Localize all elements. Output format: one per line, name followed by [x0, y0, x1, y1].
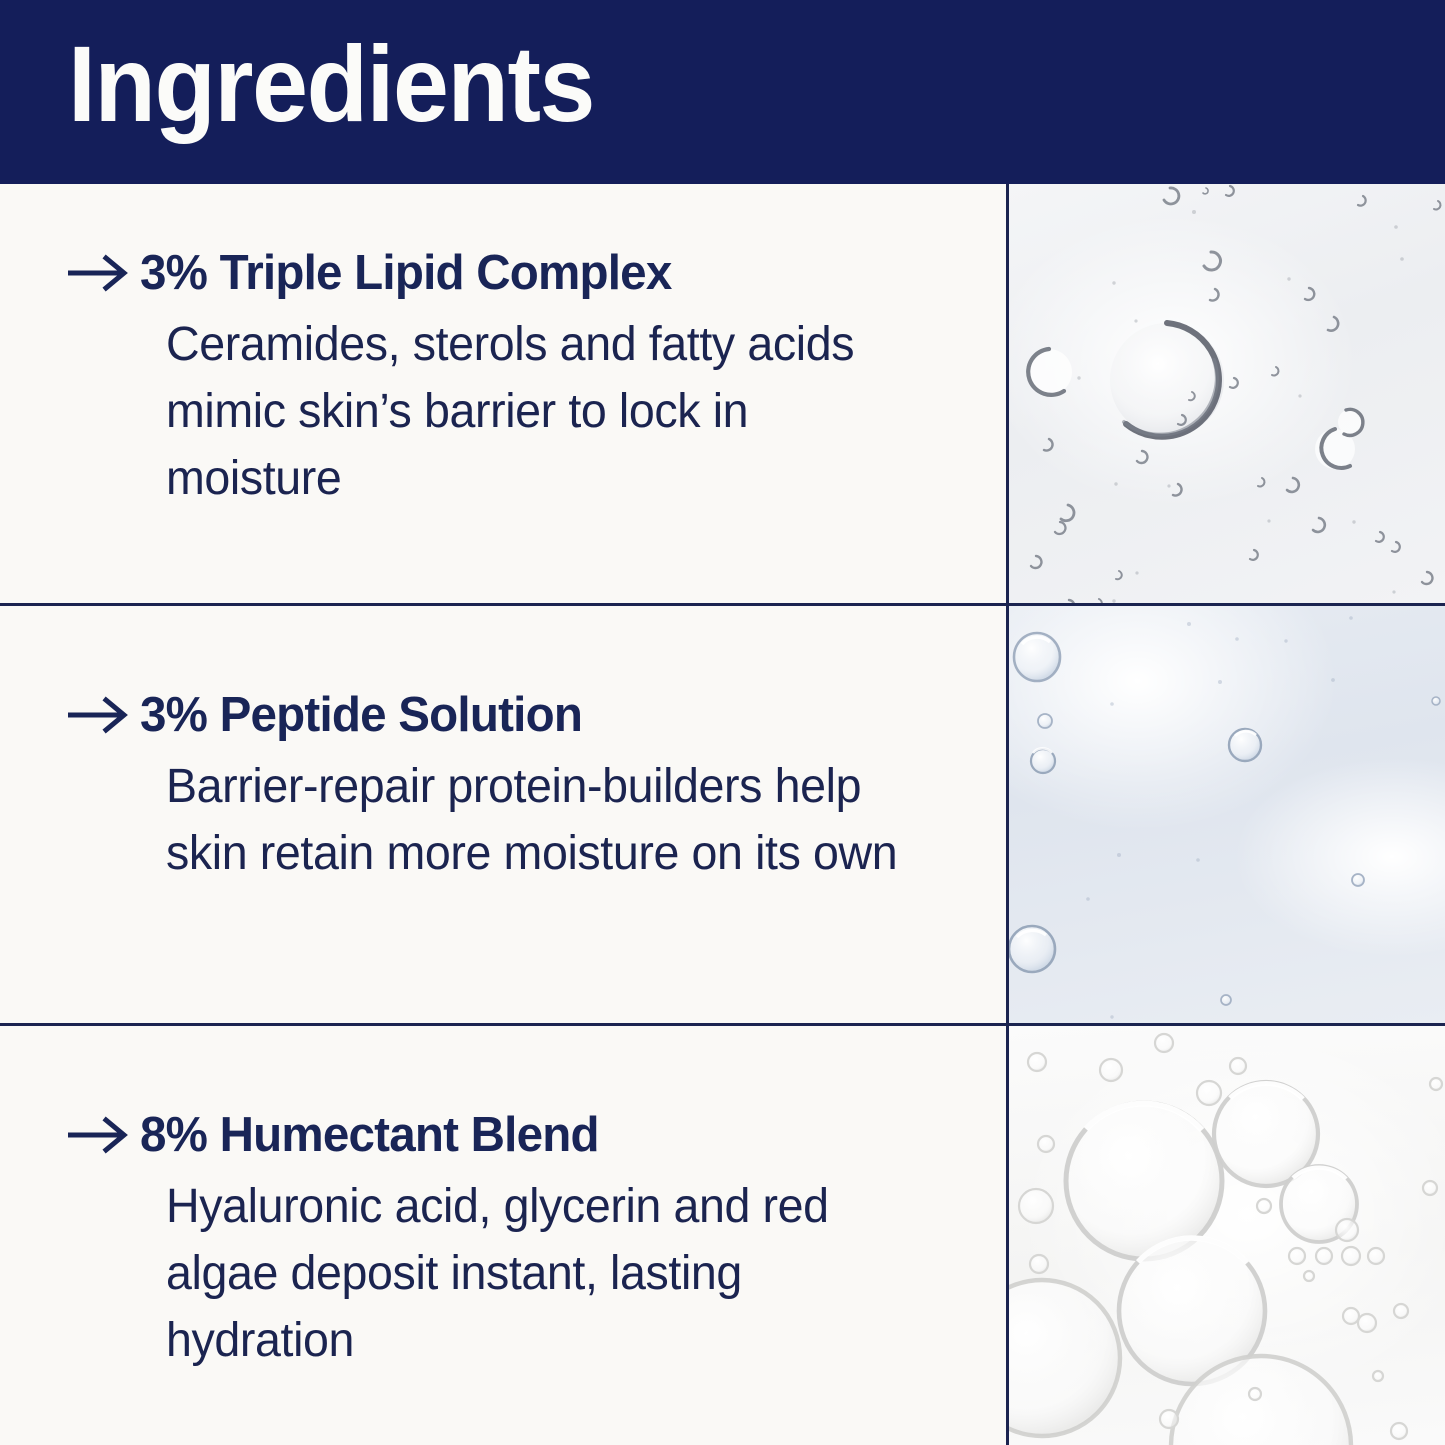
ingredient-heading-3: 8% Humectant Blend [68, 1108, 966, 1163]
ingredient-image-2 [1006, 606, 1445, 1024]
ingredient-image-3 [1006, 1026, 1445, 1445]
ingredient-title-1: 3% Triple Lipid Complex [140, 246, 671, 301]
ingredient-row-2: 3% Peptide Solution Barrier-repair prote… [0, 606, 1445, 1024]
ingredient-image-1 [1006, 184, 1445, 604]
bubble-overlay-3 [1006, 1026, 1445, 1445]
column-divider [1006, 184, 1009, 1445]
ingredient-row-3: 8% Humectant Blend Hyaluronic acid, glyc… [0, 1026, 1445, 1445]
arrow-right-icon [68, 695, 140, 735]
ingredient-heading-1: 3% Triple Lipid Complex [68, 246, 966, 301]
ingredient-title-3: 8% Humectant Blend [140, 1108, 599, 1163]
arrow-right-icon [68, 1115, 140, 1155]
ingredient-text-1: 3% Triple Lipid Complex Ceramides, stero… [0, 184, 1006, 604]
bubble-overlay-1 [1006, 184, 1445, 604]
ingredient-row-1: 3% Triple Lipid Complex Ceramides, stero… [0, 184, 1445, 604]
ingredient-description-2: Barrier-repair protein-builders help ski… [166, 753, 903, 887]
ingredient-text-2: 3% Peptide Solution Barrier-repair prote… [0, 606, 1006, 1024]
page-title: Ingredients [68, 22, 594, 146]
ingredients-infographic: Ingredients 3% Triple Lipid Complex Cera… [0, 0, 1445, 1445]
header-band: Ingredients [0, 0, 1445, 184]
row-divider-2 [0, 1023, 1445, 1026]
ingredient-heading-2: 3% Peptide Solution [68, 688, 966, 743]
ingredients-grid: 3% Triple Lipid Complex Ceramides, stero… [0, 184, 1445, 1445]
arrow-right-icon [68, 253, 140, 293]
bubble-overlay-2 [1006, 606, 1445, 1024]
ingredient-description-1: Ceramides, sterols and fatty acids mimic… [166, 311, 903, 513]
ingredient-title-2: 3% Peptide Solution [140, 688, 582, 743]
row-divider-1 [0, 603, 1445, 606]
ingredient-text-3: 8% Humectant Blend Hyaluronic acid, glyc… [0, 1026, 1006, 1445]
ingredient-description-3: Hyaluronic acid, glycerin and red algae … [166, 1173, 903, 1375]
